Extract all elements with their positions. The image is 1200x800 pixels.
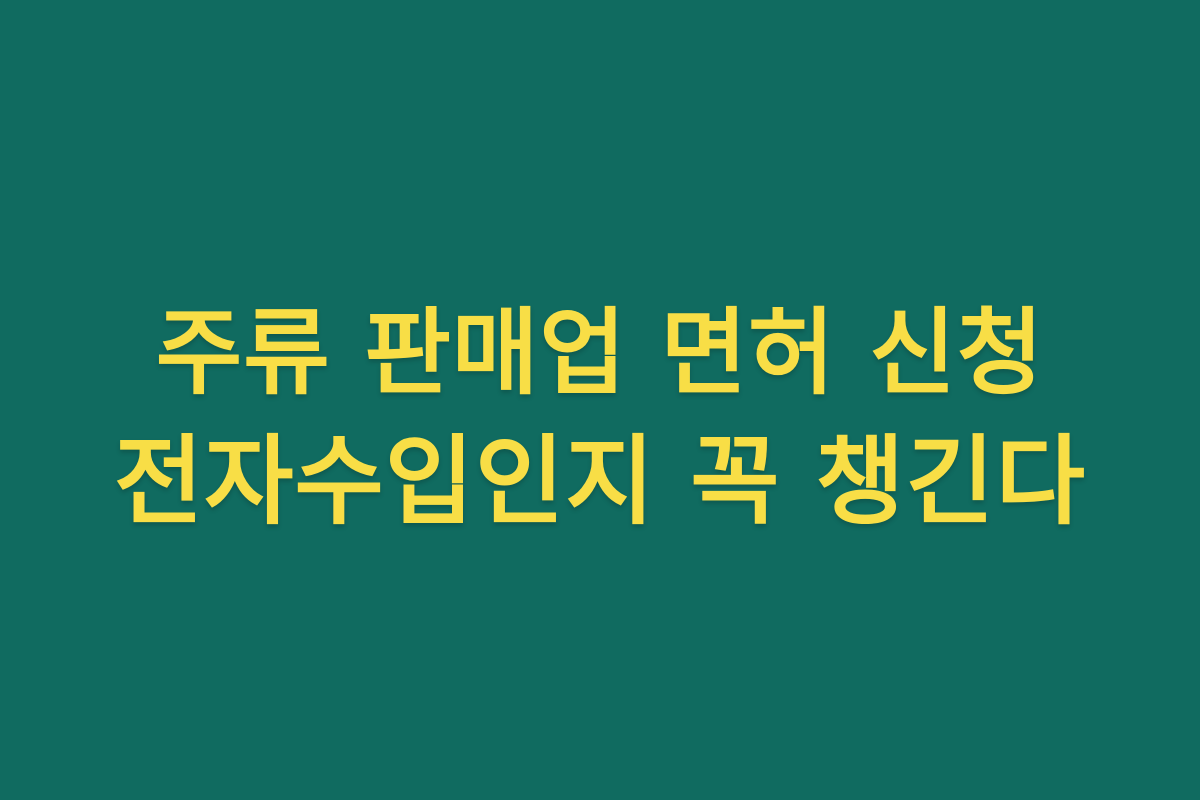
title-card-canvas: 주류 판매업 면허 신청 전자수입인지 꼭 챙긴다 xyxy=(0,0,1200,800)
headline-line-1: 주류 판매업 면허 신청 xyxy=(0,290,1200,418)
headline-block: 주류 판매업 면허 신청 전자수입인지 꼭 챙긴다 xyxy=(0,290,1200,546)
headline-line-2: 전자수입인지 꼭 챙긴다 xyxy=(0,418,1200,546)
